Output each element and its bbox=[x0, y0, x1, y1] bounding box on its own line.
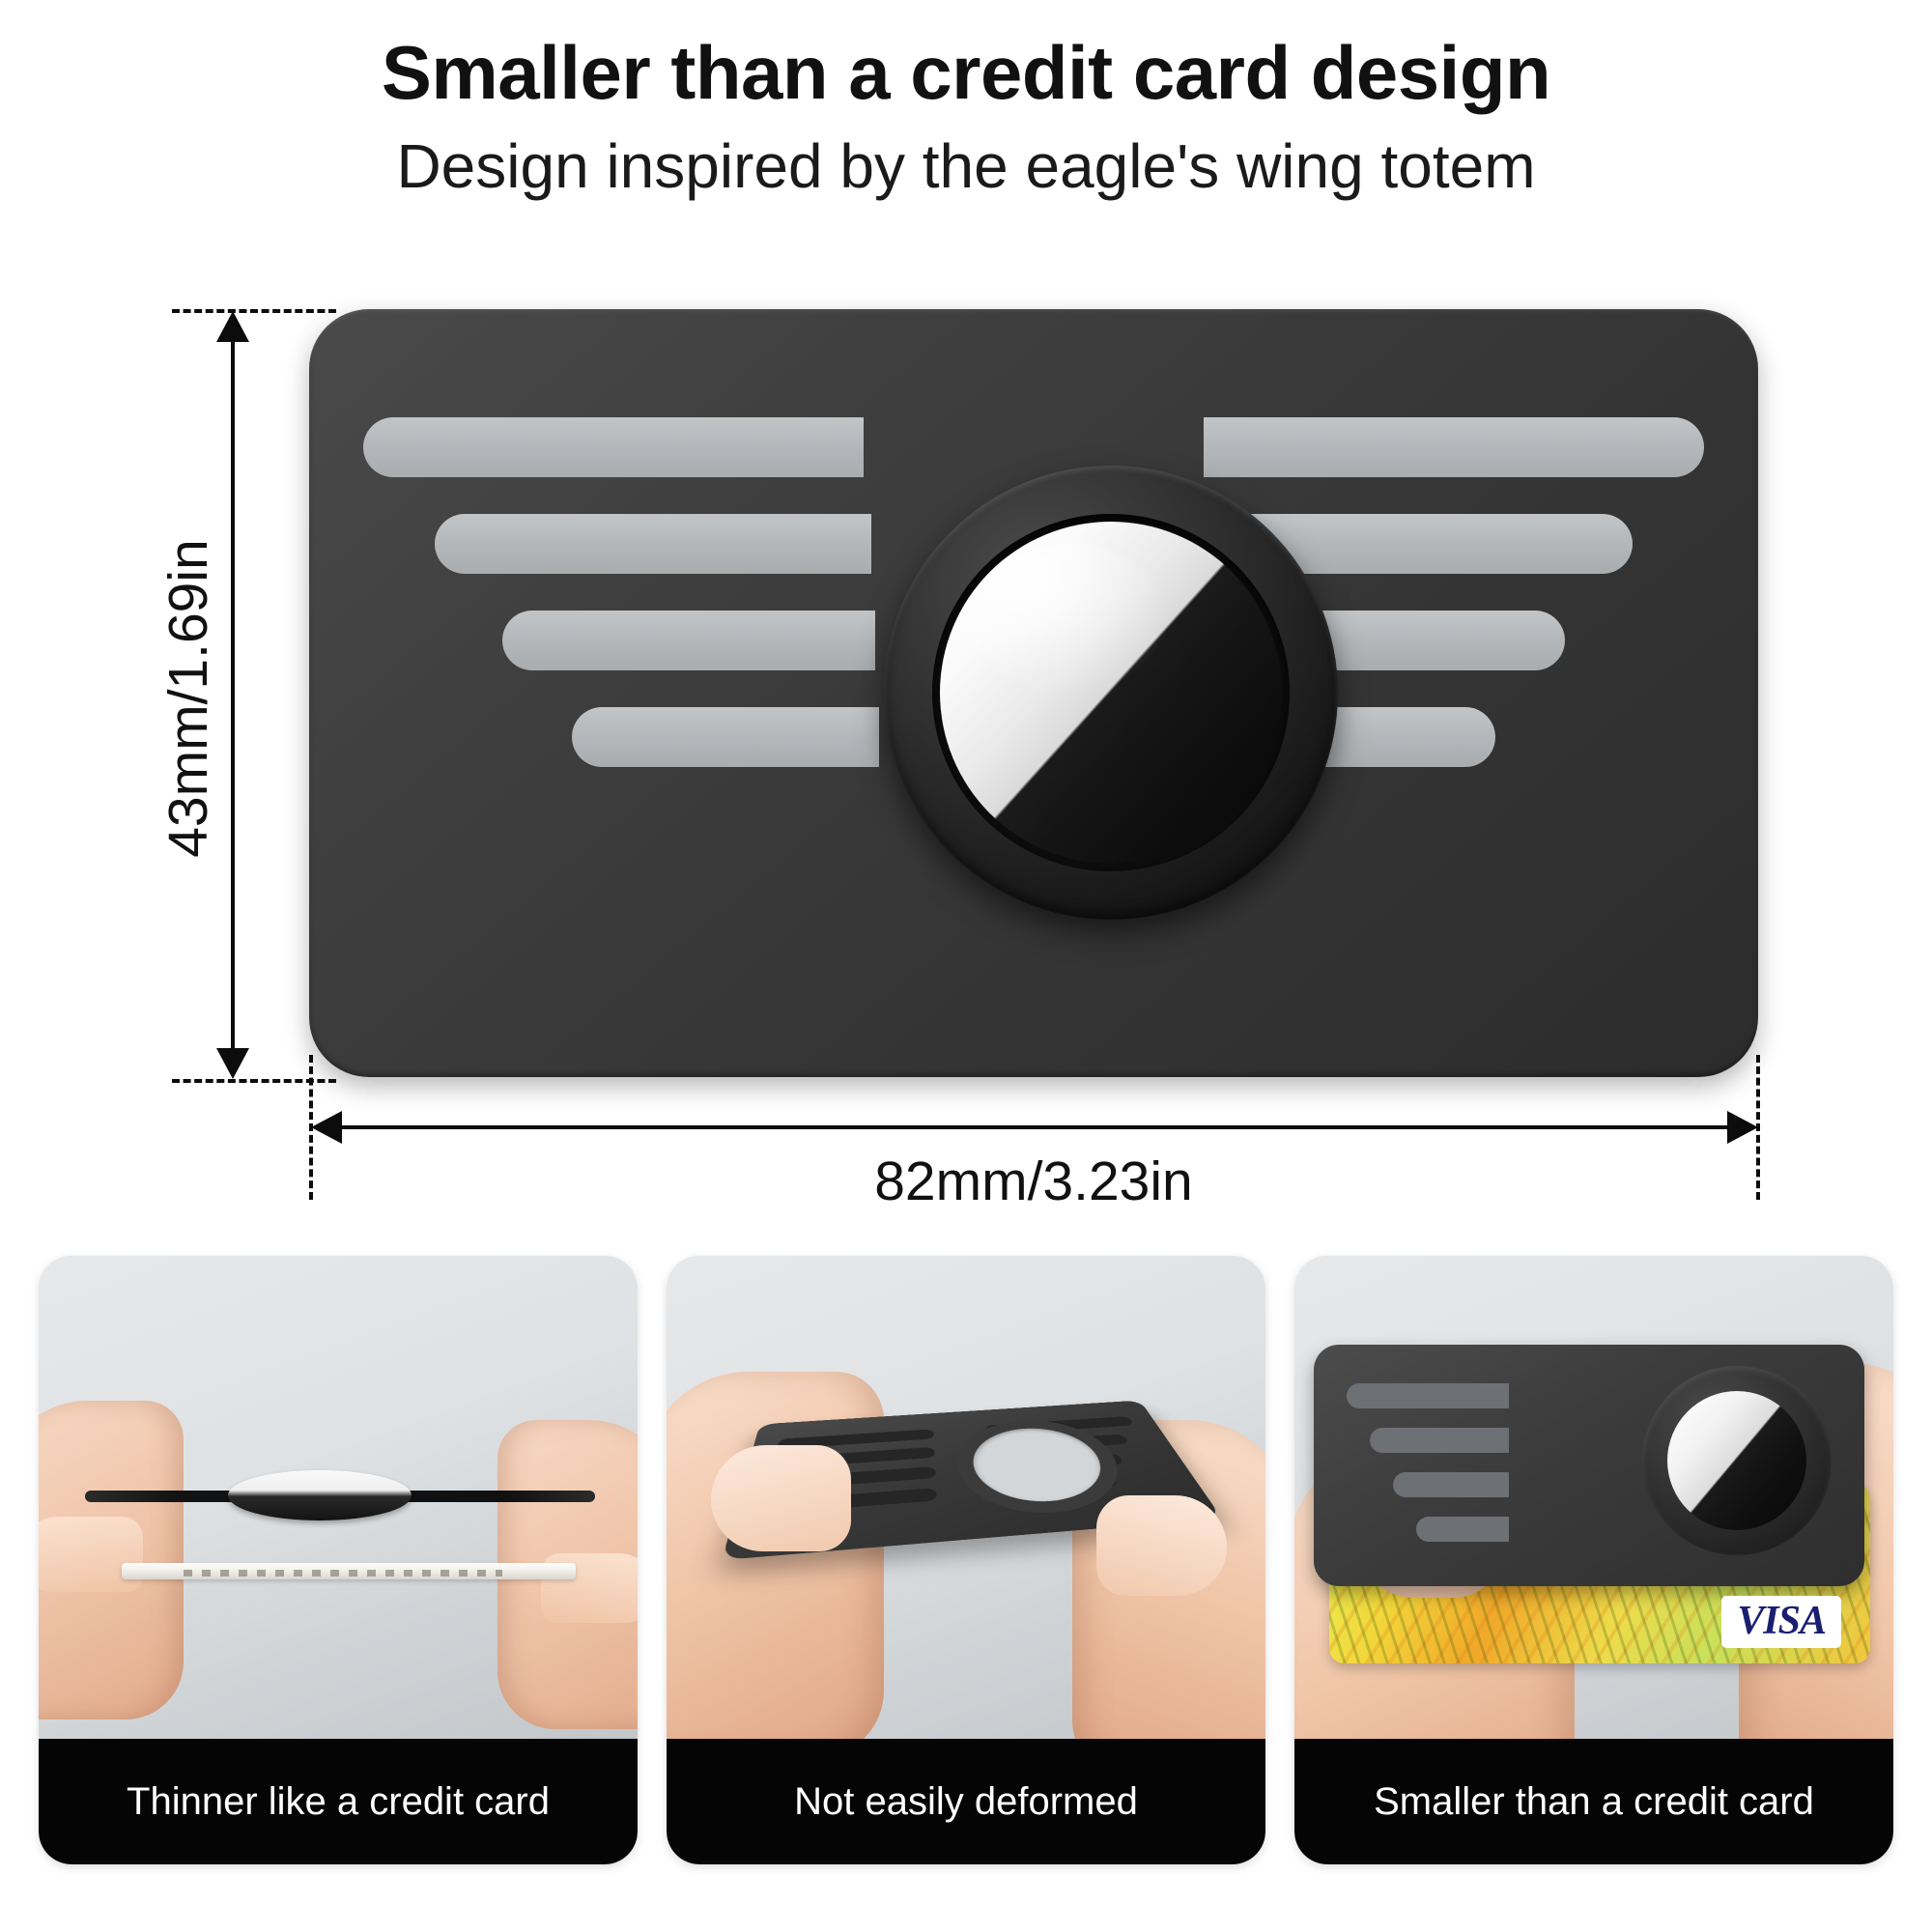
arrow-right-icon bbox=[1727, 1111, 1758, 1144]
page-subtitle: Design inspired by the eagle's wing tote… bbox=[0, 133, 1932, 200]
hand-left bbox=[39, 1401, 184, 1719]
dimension-height-label: 43mm/1.69in bbox=[156, 496, 220, 901]
wing-stripe-left-2 bbox=[435, 514, 871, 574]
visa-wordmark: VISA bbox=[1737, 1601, 1826, 1641]
arrow-down-icon bbox=[216, 1048, 249, 1079]
finger bbox=[39, 1517, 143, 1592]
wing-stripe bbox=[1393, 1472, 1509, 1497]
page-title: Smaller than a credit card design bbox=[0, 33, 1932, 113]
wing-stripe-right-1 bbox=[1204, 417, 1704, 477]
airtag-bezel-ring bbox=[884, 466, 1338, 920]
holder-with-airtag bbox=[1314, 1345, 1864, 1586]
arrow-left-icon bbox=[311, 1111, 342, 1144]
panel-photo-deform bbox=[667, 1256, 1265, 1739]
wing-stripe bbox=[1416, 1517, 1509, 1542]
wing-stripe-left-4 bbox=[572, 707, 879, 767]
panel-photo-thin bbox=[39, 1256, 638, 1739]
feature-panel-size[interactable]: VISA Smaller than a credit card bbox=[1294, 1256, 1893, 1864]
product-card-render bbox=[309, 309, 1758, 1077]
wing-stripe bbox=[1370, 1428, 1509, 1453]
credit-card-embossing bbox=[184, 1570, 502, 1577]
airtag-disc bbox=[1667, 1391, 1806, 1530]
visa-logo: VISA bbox=[1721, 1596, 1841, 1648]
dim-line-horizontal bbox=[340, 1125, 1727, 1129]
caption-bar-thin: Thinner like a credit card bbox=[39, 1739, 638, 1864]
dim-extension-top bbox=[172, 309, 336, 313]
caption-bar-size: Smaller than a credit card bbox=[1294, 1739, 1893, 1864]
feature-panel-thin[interactable]: Thinner like a credit card bbox=[39, 1256, 638, 1864]
caption-bar-deform: Not easily deformed bbox=[667, 1739, 1265, 1864]
wing-stripe-left-3 bbox=[502, 611, 875, 670]
caption-text-size: Smaller than a credit card bbox=[1374, 1782, 1814, 1821]
airtag-gloss-highlight bbox=[967, 542, 1165, 693]
infographic-root: Smaller than a credit card design Design… bbox=[0, 0, 1932, 1932]
wing-stripe bbox=[1347, 1383, 1509, 1408]
thumb-left bbox=[711, 1445, 851, 1551]
dim-line-vertical bbox=[231, 340, 235, 1048]
dimension-width-label: 82mm/3.23in bbox=[744, 1150, 1323, 1213]
airtag-disc bbox=[940, 522, 1282, 864]
caption-text-deform: Not easily deformed bbox=[794, 1782, 1138, 1821]
airtag-bulge-profile bbox=[228, 1470, 412, 1520]
airtag-bezel-ring bbox=[1642, 1366, 1832, 1555]
thumb-right bbox=[1096, 1495, 1227, 1596]
caption-text-thin: Thinner like a credit card bbox=[127, 1782, 550, 1821]
wing-stripe-left-1 bbox=[363, 417, 864, 477]
arrow-up-icon bbox=[216, 311, 249, 342]
panel-photo-size: VISA bbox=[1294, 1256, 1893, 1739]
feature-panel-deform[interactable]: Not easily deformed bbox=[667, 1256, 1265, 1864]
